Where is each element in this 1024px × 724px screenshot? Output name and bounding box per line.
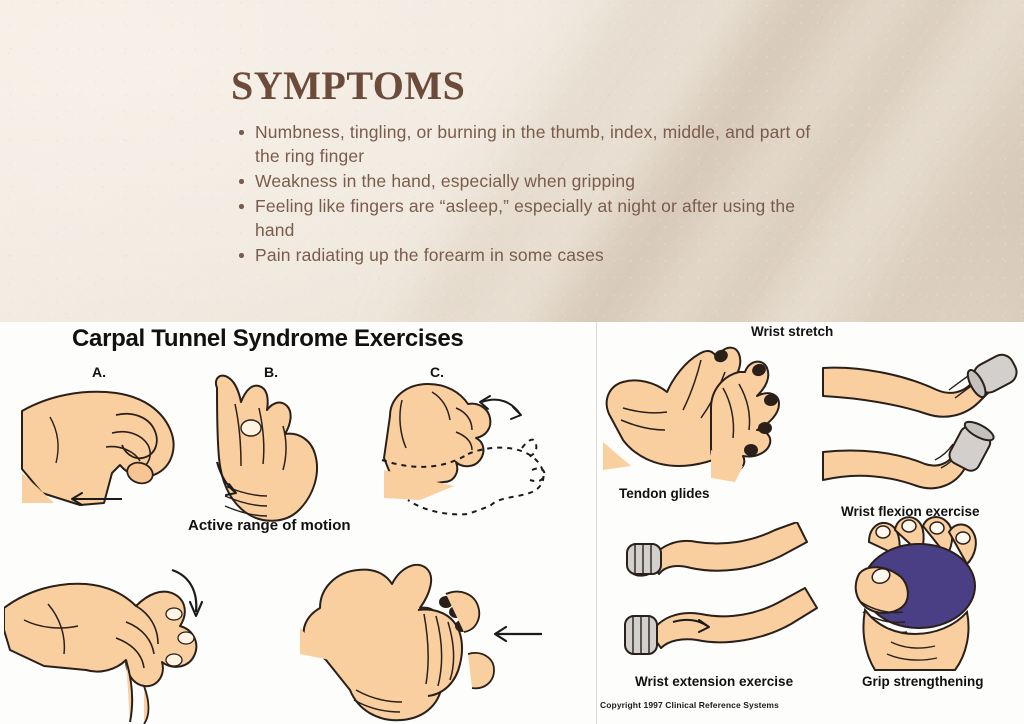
page-title: SYMPTOMS bbox=[231, 66, 465, 106]
caption-tendon-glides: Tendon glides bbox=[619, 486, 710, 501]
illustration-hand-c bbox=[372, 374, 572, 522]
caption-active-range-of-motion: Active range of motion bbox=[188, 517, 351, 534]
caption-wrist-extension-exercise: Wrist extension exercise bbox=[635, 674, 793, 689]
caption-wrist-stretch: Wrist stretch bbox=[751, 324, 833, 339]
list-item: Numbness, tingling, or burning in the th… bbox=[233, 120, 833, 168]
panel-divider bbox=[596, 322, 597, 724]
exercise-panel-right: Wrist stretch bbox=[597, 322, 1024, 724]
illustration-hand-stretch-down bbox=[4, 550, 294, 724]
list-item: Weakness in the hand, especially when gr… bbox=[233, 169, 833, 193]
shadow-band-decoration bbox=[824, 91, 1024, 322]
illustration-wrist-flexion bbox=[819, 340, 1019, 500]
figure-title: Carpal Tunnel Syndrome Exercises bbox=[72, 325, 463, 353]
copyright-notice: Copyright 1997 Clinical Reference System… bbox=[600, 700, 779, 710]
illustration-tendon-glides bbox=[601, 342, 813, 497]
illustration-wrist-extension bbox=[611, 522, 831, 672]
exercise-figure-area: Carpal Tunnel Syndrome Exercises A. B. C… bbox=[0, 322, 1024, 724]
symptoms-text-panel: SYMPTOMS Numbness, tingling, or burning … bbox=[0, 0, 1024, 322]
illustration-grip-strengthening bbox=[845, 514, 1005, 672]
exercise-panel-left: Carpal Tunnel Syndrome Exercises A. B. C… bbox=[0, 322, 596, 724]
slide-root: SYMPTOMS Numbness, tingling, or burning … bbox=[0, 0, 1024, 724]
caption-grip-strengthening: Grip strengthening bbox=[862, 674, 984, 689]
list-item: Pain radiating up the forearm in some ca… bbox=[233, 243, 833, 267]
symptom-list: Numbness, tingling, or burning in the th… bbox=[233, 120, 833, 268]
illustration-hand-b bbox=[195, 370, 355, 530]
list-item: Feeling like fingers are “asleep,” espec… bbox=[233, 194, 833, 242]
illustration-hand-stretch-press bbox=[296, 550, 546, 724]
illustration-hand-a bbox=[20, 377, 210, 517]
